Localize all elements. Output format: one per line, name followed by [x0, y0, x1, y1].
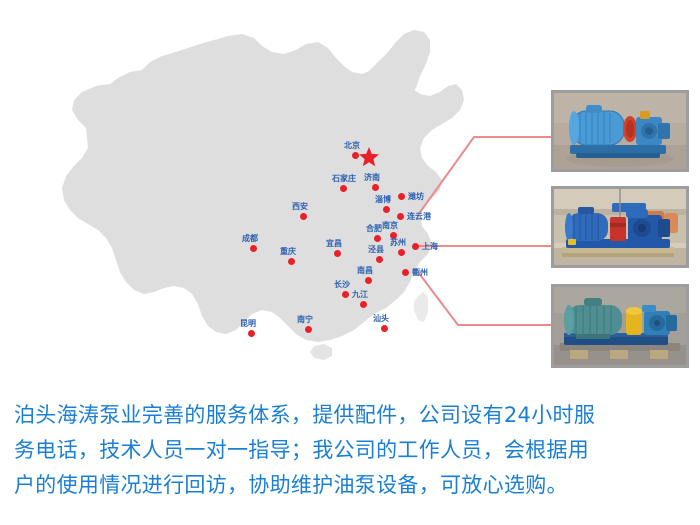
city-label: 九江 [352, 290, 368, 299]
city-label: 苏州 [390, 238, 406, 247]
city-label: 潍坊 [408, 192, 424, 201]
connector-to-photo-3 [418, 272, 551, 325]
product-photo-3[interactable] [551, 284, 689, 368]
service-network-map-graphic: 北京石家庄济南潍坊淄博连云港西安成都重庆合肥南京上海苏州泾县宜昌南昌衢州长沙九江… [0, 0, 700, 525]
pump-photo-1-image [554, 93, 686, 169]
city-dot-icon [334, 250, 341, 257]
city-dot-icon [300, 213, 307, 220]
product-photo-2[interactable] [551, 186, 689, 268]
pump-photo-3-image [554, 287, 686, 365]
city-dot-icon [381, 325, 388, 332]
city-dot-icon [288, 258, 295, 265]
city-label: 长沙 [334, 280, 350, 289]
city-dot-icon [398, 193, 405, 200]
pump-photo-2-image [554, 189, 686, 265]
city-label: 泾县 [368, 245, 384, 254]
city-label: 南宁 [297, 315, 313, 324]
city-dot-icon [360, 301, 367, 308]
connector-to-photo-1 [418, 137, 551, 215]
city-dot-icon [383, 206, 390, 213]
city-label: 昆明 [240, 319, 256, 328]
city-label: 西安 [292, 202, 308, 211]
caption-line-2: 务电话，技术人员一对一指导；我公司的工作人员，会根据用 [14, 433, 686, 468]
city-dot-icon [342, 291, 349, 298]
city-label: 上海 [422, 242, 438, 251]
city-label: 济南 [364, 173, 380, 182]
city-label: 重庆 [280, 247, 296, 256]
city-dot-icon [250, 245, 257, 252]
city-label: 宜昌 [326, 239, 342, 248]
city-label: 北京 [344, 141, 360, 150]
product-photo-1[interactable] [551, 90, 689, 172]
city-label: 南京 [382, 221, 398, 230]
city-dot-icon [376, 256, 383, 263]
city-dot-icon [397, 213, 404, 220]
city-dot-icon [305, 326, 312, 333]
caption-line-3: 户的使用情况进行回访，协助维护油泵设备，可放心选购。 [14, 468, 686, 503]
city-label: 连云港 [407, 212, 431, 221]
city-dot-icon [248, 330, 255, 337]
city-label: 淄博 [375, 195, 391, 204]
city-dot-icon [374, 235, 381, 242]
caption-line-1: 泊头海涛泵业完善的服务体系，提供配件，公司设有24小时服 [14, 398, 686, 433]
city-label: 汕头 [373, 314, 389, 323]
city-label: 衢州 [412, 268, 428, 277]
city-label: 合肥 [366, 224, 382, 233]
city-label: 成都 [242, 234, 258, 243]
city-label: 石家庄 [332, 174, 356, 183]
city-label: 南昌 [357, 266, 373, 275]
city-dot-icon [398, 249, 405, 256]
city-dot-icon [402, 269, 409, 276]
city-dot-icon [412, 243, 419, 250]
service-description-text: 泊头海涛泵业完善的服务体系，提供配件，公司设有24小时服 务电话，技术人员一对一… [14, 398, 686, 503]
city-dot-icon [352, 152, 359, 159]
city-dot-icon [340, 185, 347, 192]
city-dot-icon [365, 277, 372, 284]
city-dot-icon [372, 184, 379, 191]
